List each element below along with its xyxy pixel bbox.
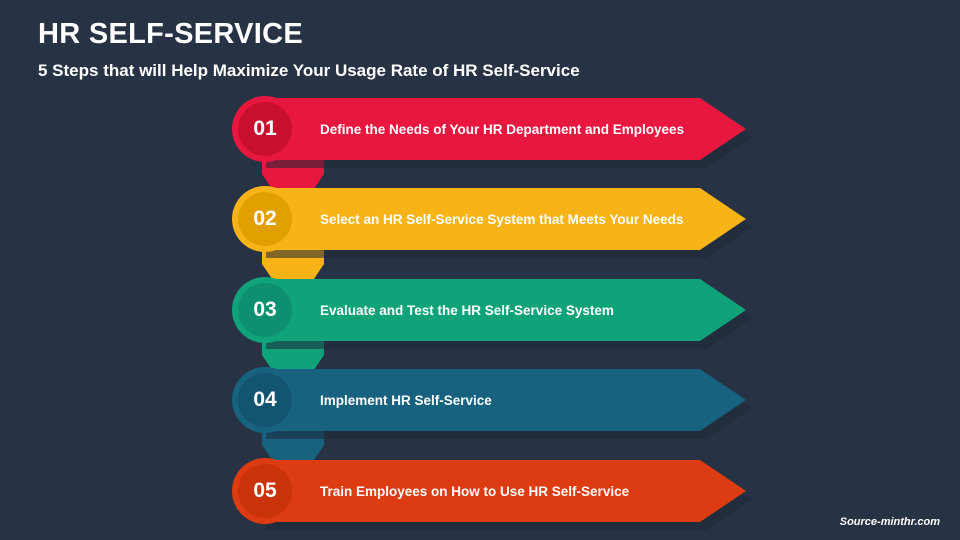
step-bar: Implement HR Self-Service (260, 369, 760, 431)
step-number-badge[interactable]: 02 (232, 186, 298, 252)
step-label: Evaluate and Test the HR Self-Service Sy… (320, 279, 710, 341)
step-bar: Train Employees on How to Use HR Self-Se… (260, 460, 760, 522)
step-label: Implement HR Self-Service (320, 369, 710, 431)
step-number: 05 (238, 464, 292, 518)
step-number: 02 (238, 192, 292, 246)
step-number-badge[interactable]: 03 (232, 277, 298, 343)
step-label: Train Employees on How to Use HR Self-Se… (320, 460, 710, 522)
page-subtitle: 5 Steps that will Help Maximize Your Usa… (38, 61, 580, 81)
list-item[interactable]: Define the Needs of Your HR Department a… (232, 98, 732, 160)
page-title: HR SELF-SERVICE (38, 18, 303, 51)
list-item[interactable]: Select an HR Self-Service System that Me… (232, 188, 732, 250)
step-number: 01 (238, 102, 292, 156)
step-number: 03 (238, 283, 292, 337)
step-bar: Define the Needs of Your HR Department a… (260, 98, 760, 160)
step-number: 04 (238, 373, 292, 427)
steps-list: Define the Needs of Your HR Department a… (0, 98, 960, 528)
slide-canvas: HR SELF-SERVICE 5 Steps that will Help M… (0, 0, 960, 540)
source-credit: Source-minthr.com (840, 516, 940, 528)
step-number-badge[interactable]: 04 (232, 367, 298, 433)
list-item[interactable]: Train Employees on How to Use HR Self-Se… (232, 460, 732, 522)
step-label: Select an HR Self-Service System that Me… (320, 188, 710, 250)
list-item[interactable]: Implement HR Self-Service 04 (232, 369, 732, 431)
step-bar: Evaluate and Test the HR Self-Service Sy… (260, 279, 760, 341)
list-item[interactable]: Evaluate and Test the HR Self-Service Sy… (232, 279, 732, 341)
step-number-badge[interactable]: 05 (232, 458, 298, 524)
step-number-badge[interactable]: 01 (232, 96, 298, 162)
step-bar: Select an HR Self-Service System that Me… (260, 188, 760, 250)
step-label: Define the Needs of Your HR Department a… (320, 98, 710, 160)
